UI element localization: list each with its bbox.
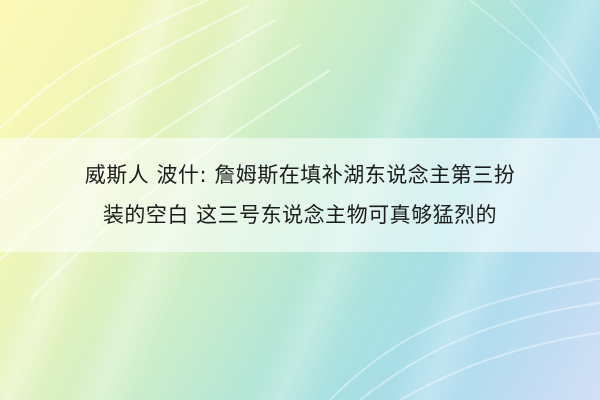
headline-overlay-band: 威斯人 波什: 詹姆斯在填补湖东说念主第三扮 装的空白 这三号东说念主物可真够猛… (0, 138, 600, 252)
headline-line-1: 威斯人 波什: 詹姆斯在填补湖东说念主第三扮 (85, 155, 515, 195)
image-canvas: 威斯人 波什: 詹姆斯在填补湖东说念主第三扮 装的空白 这三号东说念主物可真够猛… (0, 0, 600, 400)
headline-line-2: 装的空白 这三号东说念主物可真够猛烈的 (103, 195, 497, 235)
